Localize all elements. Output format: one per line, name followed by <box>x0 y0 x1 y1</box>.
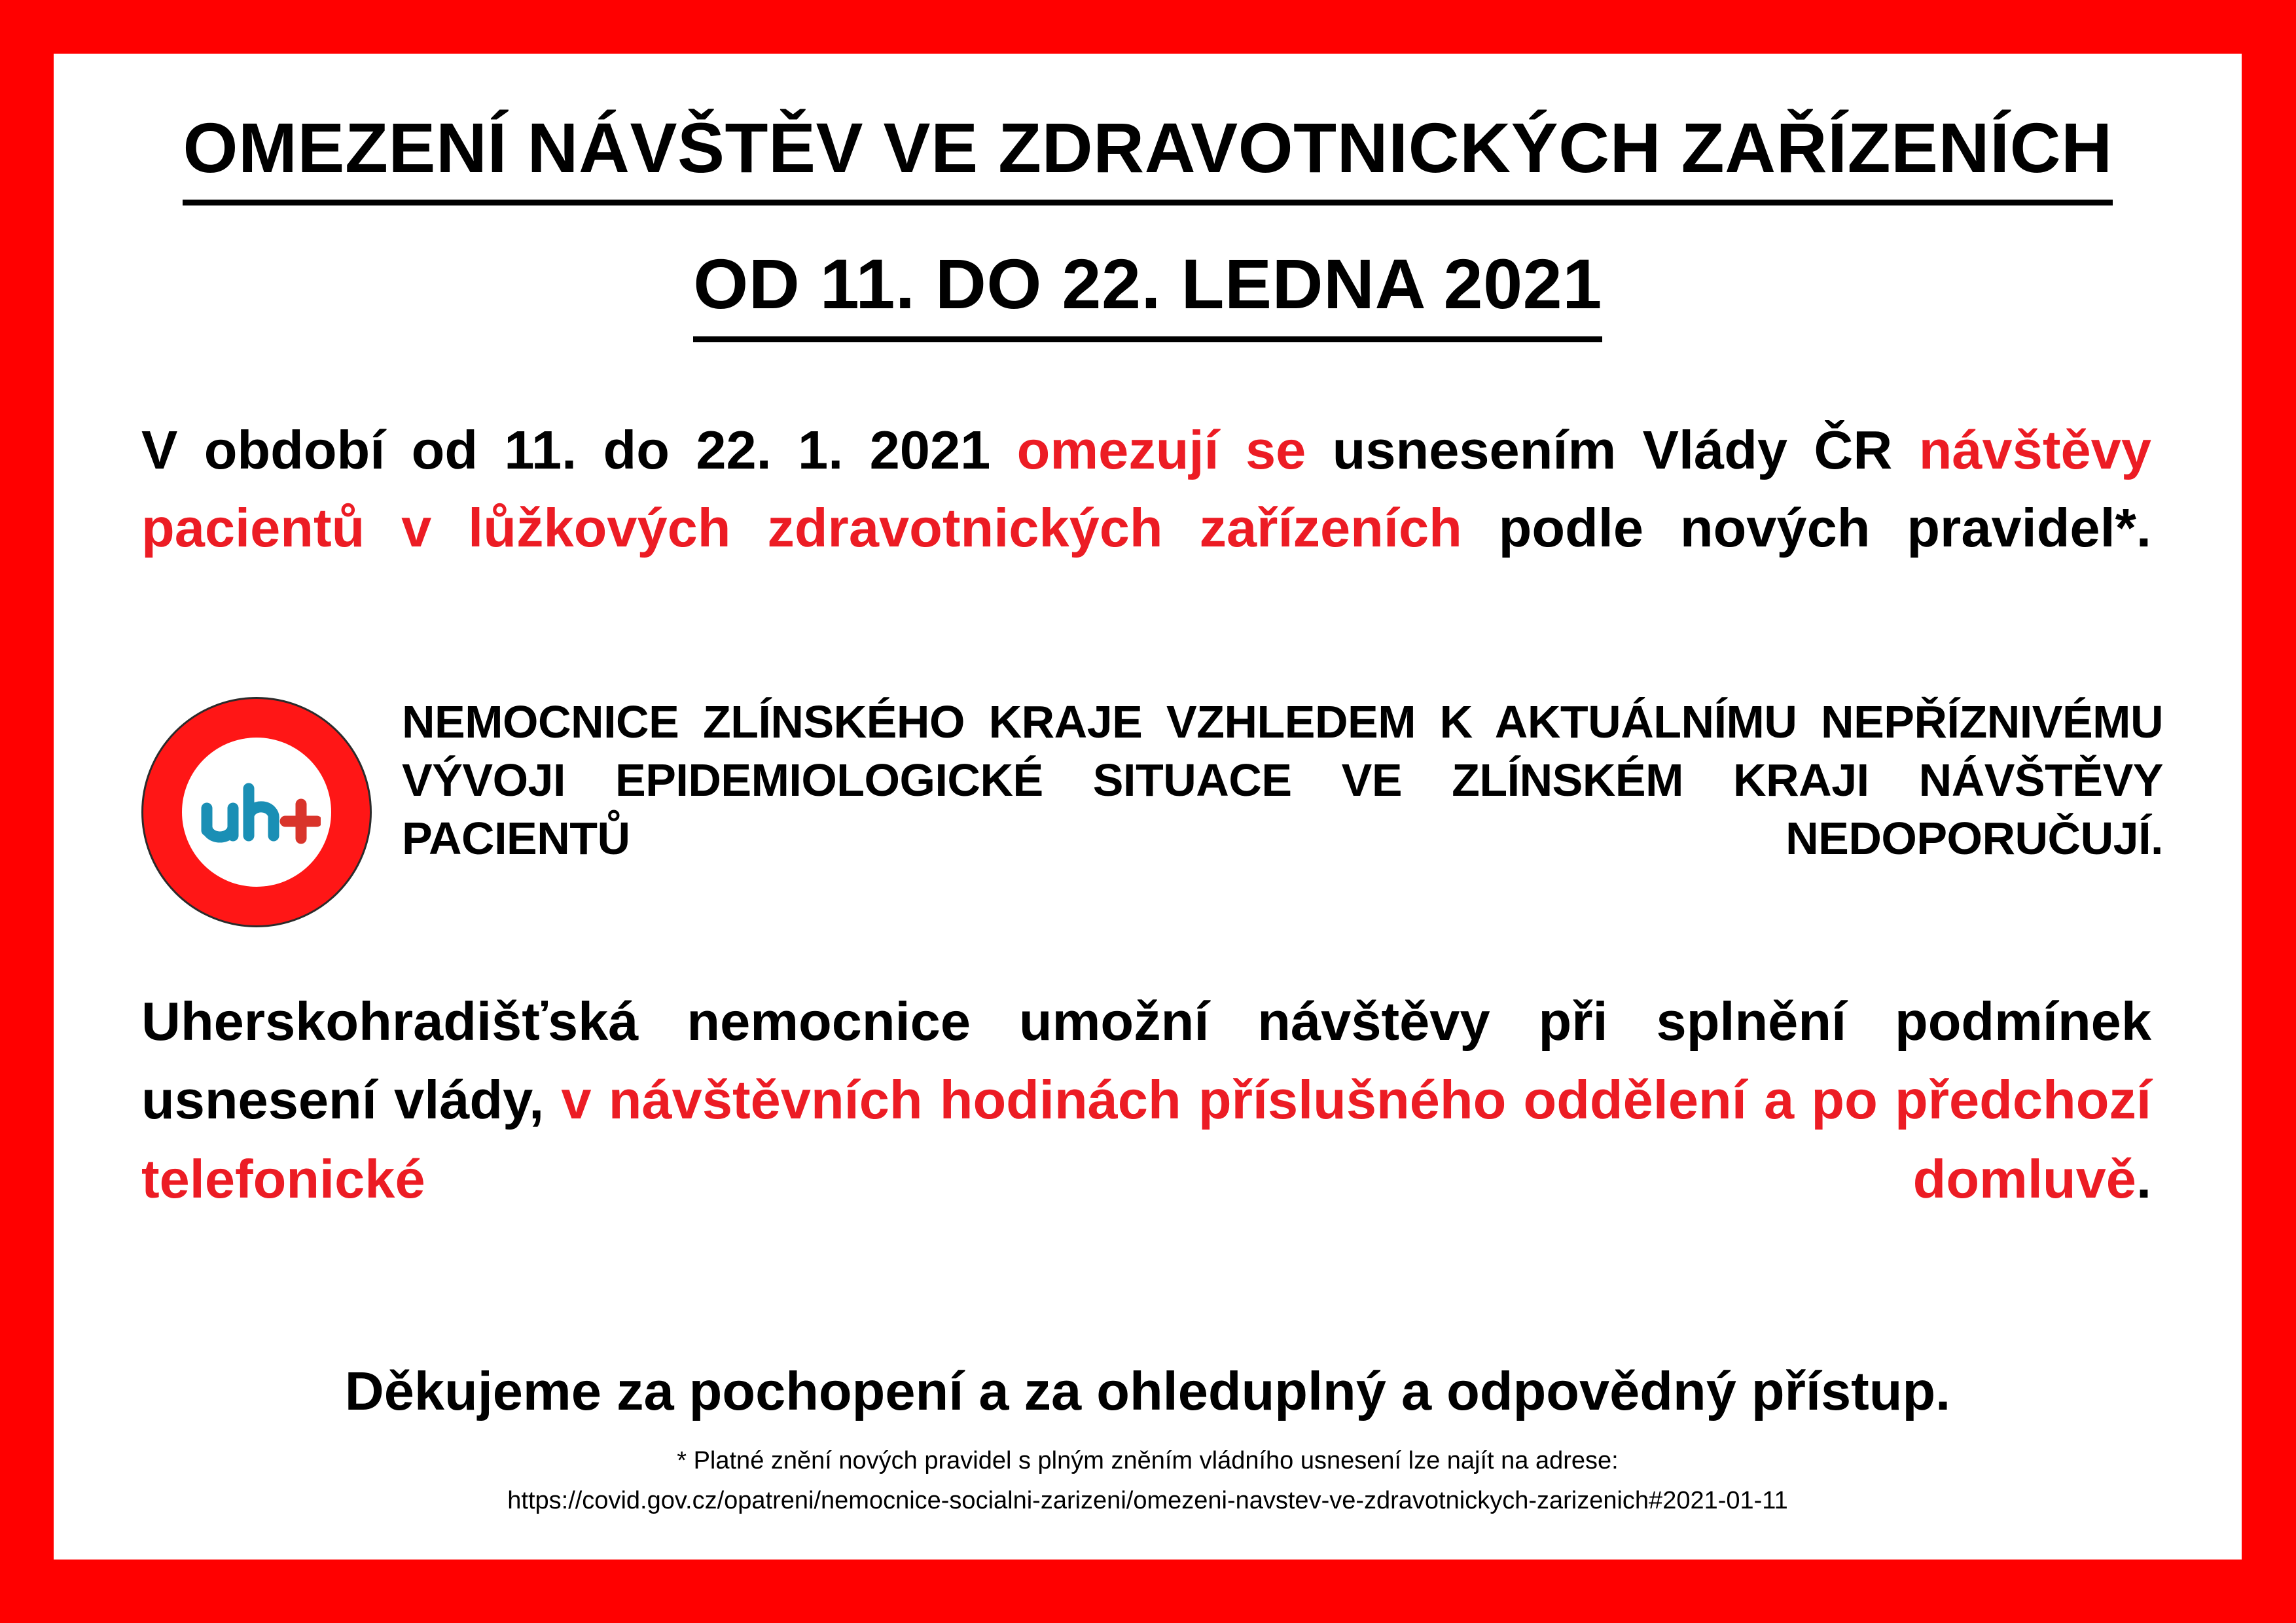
poster-white-sheet: OMEZENÍ NÁVŠTĚV VE ZDRAVOTNICKÝCH ZAŘÍZE… <box>54 54 2242 1560</box>
intro-segment-5: podle nových pravidel*. <box>1462 497 2151 558</box>
title-line-2: OD 11. DO 22. LEDNA 2021 <box>693 242 1602 342</box>
intro-segment-2-highlight: omezují se <box>1017 419 1306 480</box>
conditions-segment-3: . <box>2136 1149 2151 1209</box>
logo-inner-disc <box>182 738 331 887</box>
footnote: * Platné znění nových pravidel s plným z… <box>132 1441 2163 1522</box>
footnote-url[interactable]: https://covid.gov.cz/opatreni/nemocnice-… <box>132 1481 2163 1522</box>
poster-red-frame: OMEZENÍ NÁVŠTĚV VE ZDRAVOTNICKÝCH ZAŘÍZE… <box>0 0 2296 1623</box>
hospital-logo-icon <box>141 697 372 927</box>
uh-plus-mark-icon <box>192 773 321 851</box>
conditions-paragraph: Uherskohradišťská nemocnice umožní návšt… <box>132 982 2163 1297</box>
title-line-1: OMEZENÍ NÁVŠTĚV VE ZDRAVOTNICKÝCH ZAŘÍZE… <box>183 106 2112 205</box>
page-title: OMEZENÍ NÁVŠTĚV VE ZDRAVOTNICKÝCH ZAŘÍZE… <box>132 106 2163 342</box>
thanks-line: Děkujeme za pochopení a za ohleduplný a … <box>132 1360 2163 1423</box>
caps-notice-text: NEMOCNICE ZLÍNSKÉHO KRAJE VZHLEDEM K AKT… <box>402 693 2163 926</box>
intro-segment-1: V období od 11. do 22. 1. 2021 <box>141 419 1017 480</box>
intro-paragraph: V období od 11. do 22. 1. 2021 omezují s… <box>132 412 2163 645</box>
intro-segment-3: usnesením Vlády ČR <box>1306 419 1918 480</box>
notice-with-logo-row: NEMOCNICE ZLÍNSKÉHO KRAJE VZHLEDEM K AKT… <box>132 690 2163 927</box>
footnote-note: * Platné znění nových pravidel s plným z… <box>132 1441 2163 1482</box>
